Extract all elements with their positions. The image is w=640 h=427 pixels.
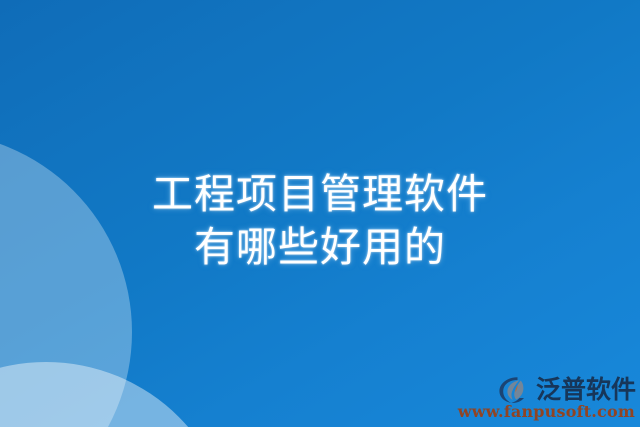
watermark: 泛普软件 www.fanpusoft.com — [458, 376, 636, 421]
slide-canvas: 工程项目管理软件 有哪些好用的 泛普软件 www.fanpusoft.com — [0, 0, 640, 427]
watermark-url: www.fanpusoft.com — [458, 403, 635, 421]
slide-title: 工程项目管理软件 有哪些好用的 — [0, 168, 640, 274]
watermark-brand-row: 泛普软件 — [497, 376, 636, 404]
slide-title-line-2: 有哪些好用的 — [0, 221, 640, 274]
decorative-circle-small — [0, 362, 234, 427]
watermark-brand-name: 泛普软件 — [536, 377, 636, 403]
slide-title-line-1: 工程项目管理软件 — [0, 168, 640, 221]
fanpu-swoosh-logo-icon — [497, 376, 531, 404]
